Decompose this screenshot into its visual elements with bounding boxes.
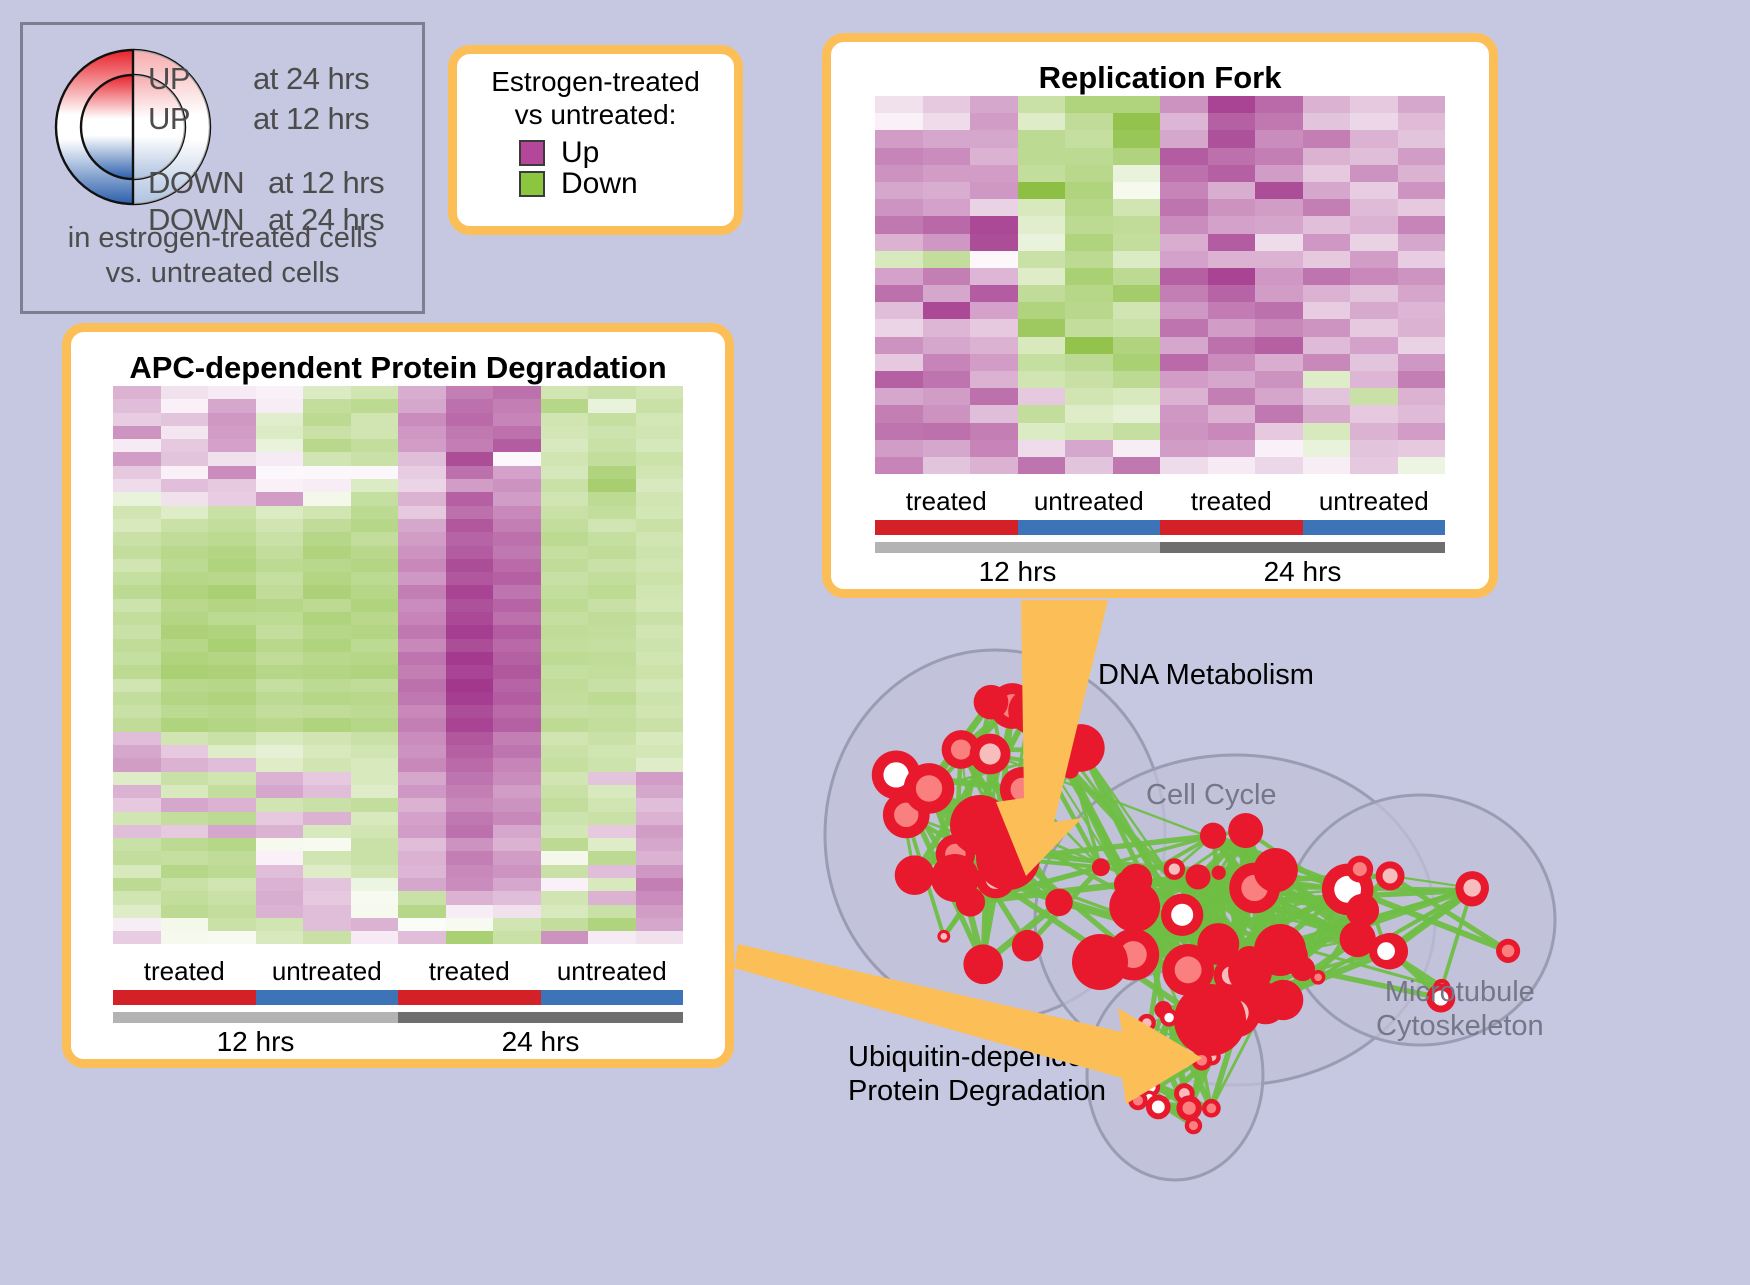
heatmap-cell: [541, 798, 589, 811]
heatmap-cell: [923, 148, 971, 165]
up-down-legend-card: Estrogen-treated vs untreated: Up Down: [448, 45, 743, 235]
heatmap-cell: [446, 559, 494, 572]
time-labels-apc: 12 hrs24 hrs: [113, 1023, 683, 1058]
heatmap-cell: [1065, 388, 1113, 405]
heatmap-cell: [636, 851, 684, 864]
condition-color-bar: [1018, 520, 1161, 535]
network-node[interactable]: [1496, 939, 1520, 963]
heatmap-cell: [1065, 302, 1113, 319]
condition-labels-apc: treateduntreatedtreateduntreated: [113, 956, 683, 987]
heatmap-cell: [493, 519, 541, 532]
heatmap-cell: [113, 865, 161, 878]
network-node[interactable]: [1000, 767, 1045, 812]
heatmap-cell: [1255, 440, 1303, 457]
heatmap-cell: [161, 718, 209, 731]
heatmap-cell: [493, 918, 541, 931]
heatmap-cell: [256, 399, 304, 412]
heatmap-cell: [351, 466, 399, 479]
network-node[interactable]: [1455, 871, 1489, 905]
network-node[interactable]: [976, 826, 1040, 890]
network-node[interactable]: [1263, 980, 1303, 1020]
heatmap-cell: [636, 585, 684, 598]
heatmap-cell: [875, 113, 923, 130]
heatmap-cell: [398, 692, 446, 705]
heatmap-cell: [588, 452, 636, 465]
heatmap-cell: [351, 692, 399, 705]
heatmap-cell: [1255, 216, 1303, 233]
heatmap-cell: [161, 838, 209, 851]
heatmap-cell: [446, 758, 494, 771]
network-node[interactable]: [1138, 1014, 1156, 1032]
heatmap-cell: [256, 559, 304, 572]
heatmap-cell: [208, 413, 256, 426]
key-ring-time-2: at 12 hrs: [268, 165, 384, 201]
heatmap-cell: [1350, 234, 1398, 251]
heatmap-cell: [161, 466, 209, 479]
heatmap-cell: [1303, 423, 1351, 440]
network-node[interactable]: [1311, 970, 1326, 985]
heatmap-cell: [303, 851, 351, 864]
network-node[interactable]: [1202, 1099, 1221, 1118]
heatmap-cell: [256, 812, 304, 825]
network-node[interactable]: [931, 854, 979, 902]
heatmap-cell: [351, 758, 399, 771]
heatmap-cell: [1065, 96, 1113, 113]
heatmap-cell: [256, 918, 304, 931]
heatmap-cell: [446, 798, 494, 811]
heatmap-cell: [493, 798, 541, 811]
heatmap-cell: [636, 639, 684, 652]
heatmap-cell: [970, 405, 1018, 422]
heatmap-cell: [493, 466, 541, 479]
heatmap-cell: [875, 216, 923, 233]
heatmap-cell: [493, 439, 541, 452]
heatmap-cell: [113, 426, 161, 439]
heatmap-cell: [446, 692, 494, 705]
heatmap-cell: [541, 479, 589, 492]
heatmap-cell: [493, 851, 541, 864]
heatmap-cell: [161, 878, 209, 891]
heatmap-cell: [875, 96, 923, 113]
heatmap-cell: [1350, 113, 1398, 130]
network-node[interactable]: [1114, 871, 1140, 897]
heatmap-cell: [493, 865, 541, 878]
heatmap-cell: [1398, 96, 1446, 113]
heatmap-cell: [351, 452, 399, 465]
heatmap-cell: [161, 599, 209, 612]
time-label: 12 hrs: [113, 1023, 398, 1058]
network-node[interactable]: [1092, 858, 1110, 876]
heatmap-cell: [398, 665, 446, 678]
network-node[interactable]: [1200, 823, 1226, 849]
heatmap-cell: [1160, 234, 1208, 251]
heatmap-cell: [636, 413, 684, 426]
network-node[interactable]: [963, 944, 1003, 984]
network-node[interactable]: [1212, 866, 1226, 880]
network-node[interactable]: [1228, 950, 1272, 994]
heatmap-cell: [970, 165, 1018, 182]
heatmap-cell: [161, 572, 209, 585]
heatmap-cell: [1398, 199, 1446, 216]
network-node[interactable]: [1012, 930, 1044, 962]
heatmap-cell: [446, 931, 494, 944]
heatmap-cell: [541, 466, 589, 479]
heatmap-cell: [256, 745, 304, 758]
heatmap-cell: [113, 931, 161, 944]
heatmap-cell: [541, 732, 589, 745]
heatmap-cell: [1160, 113, 1208, 130]
condition-bar-replication-fork: [875, 520, 1445, 535]
network-node[interactable]: [1228, 813, 1263, 848]
network-node[interactable]: [1008, 688, 1054, 734]
time-label: 24 hrs: [1160, 553, 1445, 588]
heatmap-cell: [970, 113, 1018, 130]
heatmap-cell: [970, 199, 1018, 216]
heatmap-cell: [493, 825, 541, 838]
heatmap-cell: [493, 785, 541, 798]
heatmap-cell: [208, 798, 256, 811]
heatmap-cell: [1113, 113, 1161, 130]
heatmap-cell: [493, 679, 541, 692]
heatmap-cell: [1398, 285, 1446, 302]
network-node[interactable]: [895, 855, 935, 895]
heatmap-cell: [446, 599, 494, 612]
heatmap-cell: [1255, 234, 1303, 251]
network-node[interactable]: [1346, 856, 1373, 883]
heatmap-cell: [256, 772, 304, 785]
heatmap-cell: [256, 798, 304, 811]
heatmap-cell: [446, 426, 494, 439]
heatmap-cell: [1350, 371, 1398, 388]
heatmap-cell: [1255, 199, 1303, 216]
heatmap-cell: [1398, 268, 1446, 285]
heatmap-cell: [446, 413, 494, 426]
heatmap-cell: [636, 931, 684, 944]
heatmap-cell: [636, 718, 684, 731]
heatmap-cell: [398, 891, 446, 904]
heatmap-cell: [208, 519, 256, 532]
heatmap-cell: [875, 371, 923, 388]
network-graph: [780, 620, 1740, 1280]
heatmap-cell: [256, 612, 304, 625]
heatmap-cell: [1398, 440, 1446, 457]
heatmap-cell: [636, 506, 684, 519]
heatmap-cell: [1113, 234, 1161, 251]
heatmap-cell: [351, 891, 399, 904]
heatmap-cell: [1398, 337, 1446, 354]
heatmap-cell: [351, 772, 399, 785]
heatmap-cell: [1208, 182, 1256, 199]
heatmap-cell: [1113, 388, 1161, 405]
heatmap-cell: [208, 732, 256, 745]
heatmap-cell: [1113, 268, 1161, 285]
heatmap-cell: [588, 439, 636, 452]
heatmap-cell: [446, 785, 494, 798]
time-color-bar: [1160, 542, 1445, 553]
heatmap-cell: [303, 452, 351, 465]
heatmap-cell: [1208, 405, 1256, 422]
heatmap-cell: [541, 519, 589, 532]
heatmap-cell: [1303, 388, 1351, 405]
network-node[interactable]: [1146, 1095, 1171, 1120]
heatmap-cell: [541, 532, 589, 545]
heatmap-cell: [351, 506, 399, 519]
network-node[interactable]: [1185, 864, 1210, 889]
heatmap-cell: [923, 113, 971, 130]
heatmap-cell: [208, 572, 256, 585]
network-node[interactable]: [974, 685, 1009, 720]
heatmap-cell: [351, 812, 399, 825]
heatmap-cell: [161, 652, 209, 665]
panel-title-replication-fork: Replication Fork: [831, 60, 1489, 96]
heatmap-cell: [1303, 457, 1351, 474]
heatmap-cell: [398, 865, 446, 878]
time-color-bar: [398, 1012, 683, 1023]
heatmap-cell: [208, 466, 256, 479]
heatmap-cell: [1303, 371, 1351, 388]
heatmap-cell: [636, 732, 684, 745]
heatmap-cell: [588, 931, 636, 944]
heatmap-cell: [493, 718, 541, 731]
legend-item-down: Down: [519, 169, 734, 199]
heatmap-cell: [1065, 148, 1113, 165]
heatmap-cell: [1065, 251, 1113, 268]
heatmap-cell: [1350, 165, 1398, 182]
heatmap-cell: [1113, 423, 1161, 440]
heatmap-cell: [1208, 216, 1256, 233]
legend-item-up: Up: [519, 138, 734, 168]
heatmap-cell: [398, 705, 446, 718]
heatmap-cell: [161, 439, 209, 452]
network-node[interactable]: [1369, 934, 1403, 968]
heatmap-cell: [1350, 216, 1398, 233]
network-node[interactable]: [1045, 889, 1073, 917]
heatmap-cell: [208, 718, 256, 731]
heatmap-cell: [636, 479, 684, 492]
heatmap-cell: [113, 758, 161, 771]
heatmap-cell: [303, 599, 351, 612]
heatmap-cell: [256, 532, 304, 545]
heatmap-cell: [923, 285, 971, 302]
heatmap-cell: [113, 532, 161, 545]
heatmap-cell: [113, 625, 161, 638]
heatmap-cell: [113, 466, 161, 479]
time-color-bar: [113, 1012, 398, 1023]
heatmap-cell: [161, 559, 209, 572]
heatmap-cell: [923, 268, 971, 285]
heatmap-cell: [113, 812, 161, 825]
heatmap-cell: [1160, 251, 1208, 268]
heatmap-cell: [1113, 405, 1161, 422]
heatmap-cell: [446, 905, 494, 918]
network-node[interactable]: [1185, 1117, 1202, 1134]
heatmap-cell: [161, 452, 209, 465]
heatmap-cell: [923, 302, 971, 319]
heatmap-cell: [113, 452, 161, 465]
heatmap-cell: [875, 199, 923, 216]
heatmap-cell: [541, 865, 589, 878]
heatmap-cell: [1160, 423, 1208, 440]
heatmap-cell: [208, 679, 256, 692]
network-node[interactable]: [1128, 1091, 1147, 1110]
heatmap-cell: [351, 492, 399, 505]
heatmap-cell: [1398, 251, 1446, 268]
heatmap-cell: [1303, 440, 1351, 457]
heatmap-cell: [446, 612, 494, 625]
heatmap-cell: [1255, 302, 1303, 319]
heatmap-cell: [588, 838, 636, 851]
heatmap-cell: [446, 705, 494, 718]
key-footer-line2: vs. untreated cells: [23, 256, 422, 291]
network-node[interactable]: [1129, 1072, 1150, 1093]
heatmap-cell: [970, 457, 1018, 474]
heatmap-cell: [875, 130, 923, 147]
heatmap-cell: [208, 479, 256, 492]
heatmap-cell: [256, 546, 304, 559]
heatmap-cell: [588, 572, 636, 585]
heatmap-cell: [923, 251, 971, 268]
heatmap-cell: [446, 519, 494, 532]
condition-color-bar: [256, 990, 399, 1005]
heatmap-cell: [875, 268, 923, 285]
key-ring-time-0: at 24 hrs: [253, 61, 369, 97]
legend-label-up: Up: [561, 138, 599, 168]
heatmap-cell: [351, 745, 399, 758]
heatmap-cell: [113, 878, 161, 891]
heatmap-cell: [923, 199, 971, 216]
heatmap-cell: [256, 492, 304, 505]
heatmap-cell: [161, 772, 209, 785]
heatmap-cell: [161, 386, 209, 399]
network-node[interactable]: [1346, 894, 1379, 927]
heatmap-cell: [1160, 337, 1208, 354]
heatmap-cell: [493, 905, 541, 918]
cluster-label-ubiquitin-dependent-protein-degradation: Ubiquitin-dependent Protein Degradation: [848, 1040, 1108, 1108]
heatmap-cell: [1398, 457, 1446, 474]
heatmap-cell: [446, 918, 494, 931]
heatmap-cell: [493, 599, 541, 612]
network-node[interactable]: [1161, 894, 1203, 936]
heatmap-cell: [113, 891, 161, 904]
heatmap-cell: [588, 532, 636, 545]
heatmap-cell: [303, 785, 351, 798]
heatmap-cell: [398, 679, 446, 692]
heatmap-cell: [636, 825, 684, 838]
heatmap-cell: [923, 405, 971, 422]
heatmap-cell: [541, 572, 589, 585]
heatmap-cell: [970, 182, 1018, 199]
heatmap-cell: [493, 891, 541, 904]
heatmap-cell: [636, 492, 684, 505]
heatmap-cell: [923, 216, 971, 233]
heatmap-cell: [636, 399, 684, 412]
heatmap-cell: [636, 665, 684, 678]
heatmap-cell: [446, 718, 494, 731]
heatmap-cell: [208, 851, 256, 864]
heatmap-cell: [398, 519, 446, 532]
up-color-swatch: [519, 140, 545, 166]
network-node[interactable]: [1174, 984, 1246, 1056]
heatmap-cell: [1255, 113, 1303, 130]
heatmap-cell: [303, 705, 351, 718]
heatmap-cell: [161, 758, 209, 771]
heatmap-cell: [256, 838, 304, 851]
network-node[interactable]: [970, 734, 1011, 775]
heatmap-cell: [161, 798, 209, 811]
heatmap-cell: [1255, 96, 1303, 113]
heatmap-cell: [208, 426, 256, 439]
heatmap-cell: [161, 812, 209, 825]
heatmap-cell: [303, 386, 351, 399]
heatmap-cell: [1350, 337, 1398, 354]
heatmap-cell: [1160, 457, 1208, 474]
heatmap-cell: [161, 905, 209, 918]
heatmap-cell: [208, 918, 256, 931]
heatmap-cell: [541, 758, 589, 771]
heatmap-cell: [541, 506, 589, 519]
network-node[interactable]: [1164, 858, 1186, 880]
heatmap-cell: [1255, 268, 1303, 285]
heatmap-cell: [208, 506, 256, 519]
heatmap-cell: [398, 639, 446, 652]
heatmap-cell: [351, 572, 399, 585]
heatmap-cell: [923, 388, 971, 405]
network-node[interactable]: [1376, 861, 1405, 890]
heatmap-cell: [256, 705, 304, 718]
heatmap-cell: [541, 718, 589, 731]
heatmap-cell: [1018, 440, 1066, 457]
heatmap-cell: [398, 492, 446, 505]
heatmap-cell: [1303, 234, 1351, 251]
heatmap-cell: [541, 599, 589, 612]
heatmap-cell: [493, 705, 541, 718]
heatmap-cell: [1018, 319, 1066, 336]
heatmap-cell: [398, 798, 446, 811]
heatmap-cell: [398, 625, 446, 638]
heatmap-cell: [1160, 405, 1208, 422]
heatmap-cell: [1113, 319, 1161, 336]
heatmap-cell: [161, 891, 209, 904]
network-node[interactable]: [1176, 1095, 1201, 1120]
network-node[interactable]: [1057, 724, 1105, 772]
heatmap-cell: [256, 758, 304, 771]
heatmap-cell: [113, 546, 161, 559]
heatmap-cell: [113, 506, 161, 519]
heatmap-cell: [1303, 337, 1351, 354]
heatmap-cell: [161, 625, 209, 638]
network-node[interactable]: [1254, 848, 1298, 892]
heatmap-cell: [303, 439, 351, 452]
time-bar-replication-fork: [875, 542, 1445, 553]
network-node[interactable]: [1072, 934, 1128, 990]
heatmap-cell: [208, 612, 256, 625]
panel-replication-fork: Replication Fork treateduntreatedtreated…: [822, 33, 1498, 598]
heatmap-cell: [398, 718, 446, 731]
heatmap-cell: [588, 758, 636, 771]
condition-label: untreated: [1018, 486, 1161, 517]
heatmap-cell: [208, 665, 256, 678]
condition-color-bar: [113, 990, 256, 1005]
heatmap-cell: [351, 612, 399, 625]
heatmap-cell: [351, 732, 399, 745]
heatmap-cell: [541, 625, 589, 638]
network-node[interactable]: [904, 763, 955, 814]
heatmap-cell: [1065, 285, 1113, 302]
time-bar-apc: [113, 1012, 683, 1023]
heatmap-cell: [208, 399, 256, 412]
heatmap-cell: [541, 705, 589, 718]
network-node[interactable]: [937, 930, 950, 943]
